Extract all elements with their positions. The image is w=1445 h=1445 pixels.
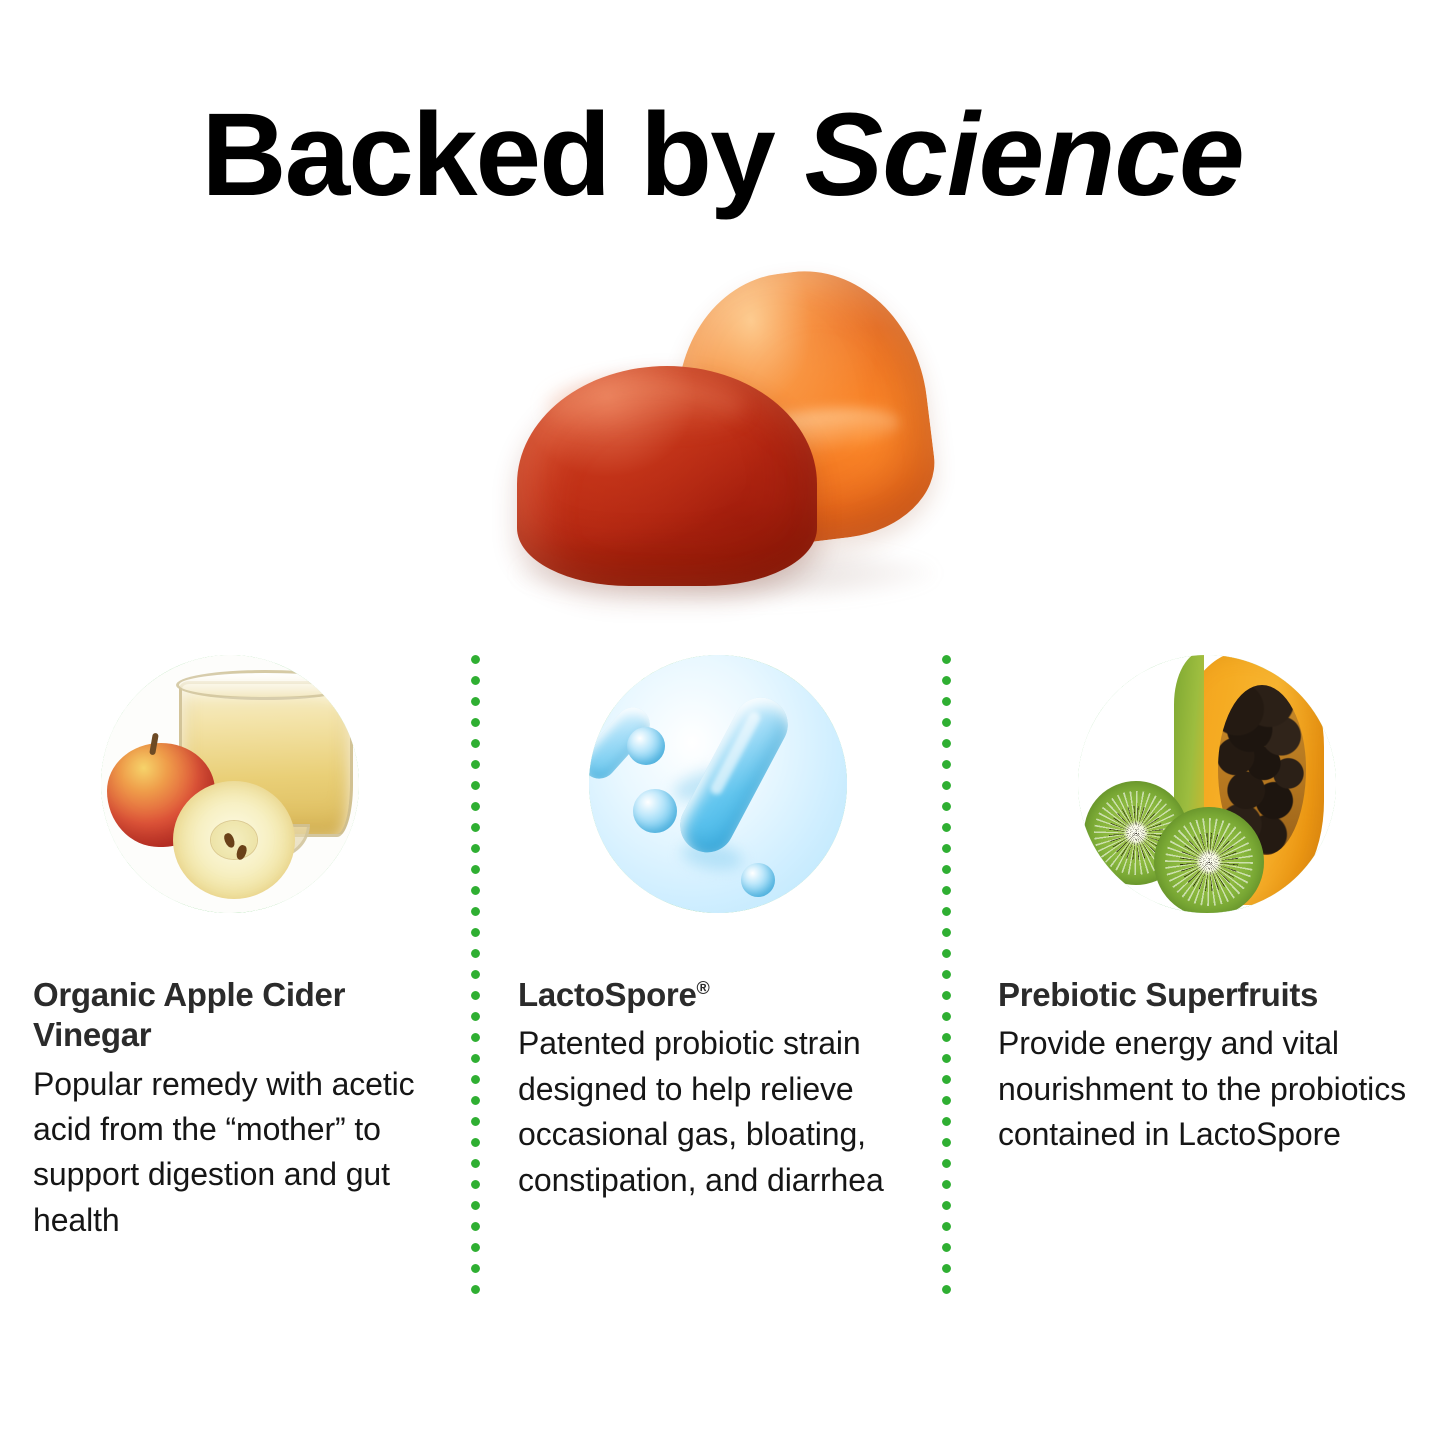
column-1-heading: Organic Apple Cider Vinegar	[33, 975, 453, 1056]
column-3-heading: Prebiotic Superfruits	[998, 975, 1432, 1015]
column-2-heading: LactoSpore®	[518, 975, 938, 1015]
spore-icon	[627, 727, 665, 765]
kiwi-seeds-icon	[1180, 833, 1237, 890]
hero-gummies-image	[455, 250, 1015, 640]
dotted-divider-left	[471, 655, 480, 1303]
column-1-body: Popular remedy with acetic acid from the…	[33, 1062, 453, 1244]
spore-icon	[741, 863, 775, 897]
column-lactospore: LactoSpore® Patented probiotic strain de…	[518, 975, 938, 1203]
column-2-body: Patented probiotic strain designed to he…	[518, 1021, 938, 1203]
column-3-body: Provide energy and vital nourishment to …	[998, 1021, 1432, 1157]
page-title: Backed by Science	[201, 96, 1243, 214]
column-2-heading-text: LactoSpore	[518, 976, 697, 1013]
badge-2-clip	[589, 655, 847, 913]
badge-probiotic-bacteria	[589, 655, 847, 913]
halved-apple-icon	[173, 781, 295, 899]
badge-1-clip	[101, 655, 359, 913]
gummy-front-red	[517, 366, 817, 586]
dotted-divider-right	[942, 655, 951, 1303]
badge-apple-cider-vinegar	[101, 655, 359, 913]
kiwi-half-icon	[1154, 807, 1264, 913]
column-apple-cider-vinegar: Organic Apple Cider Vinegar Popular reme…	[33, 975, 453, 1243]
spore-icon	[633, 789, 677, 833]
badge-3-clip	[1078, 655, 1336, 913]
badge-prebiotic-superfruits	[1078, 655, 1336, 913]
registered-mark-icon: ®	[697, 978, 710, 998]
page-title-container: Backed by Science	[0, 96, 1445, 214]
column-prebiotic-superfruits: Prebiotic Superfruits Provide energy and…	[998, 975, 1432, 1158]
page-title-italic: Science	[805, 89, 1244, 221]
page-title-regular: Backed by	[201, 89, 804, 221]
